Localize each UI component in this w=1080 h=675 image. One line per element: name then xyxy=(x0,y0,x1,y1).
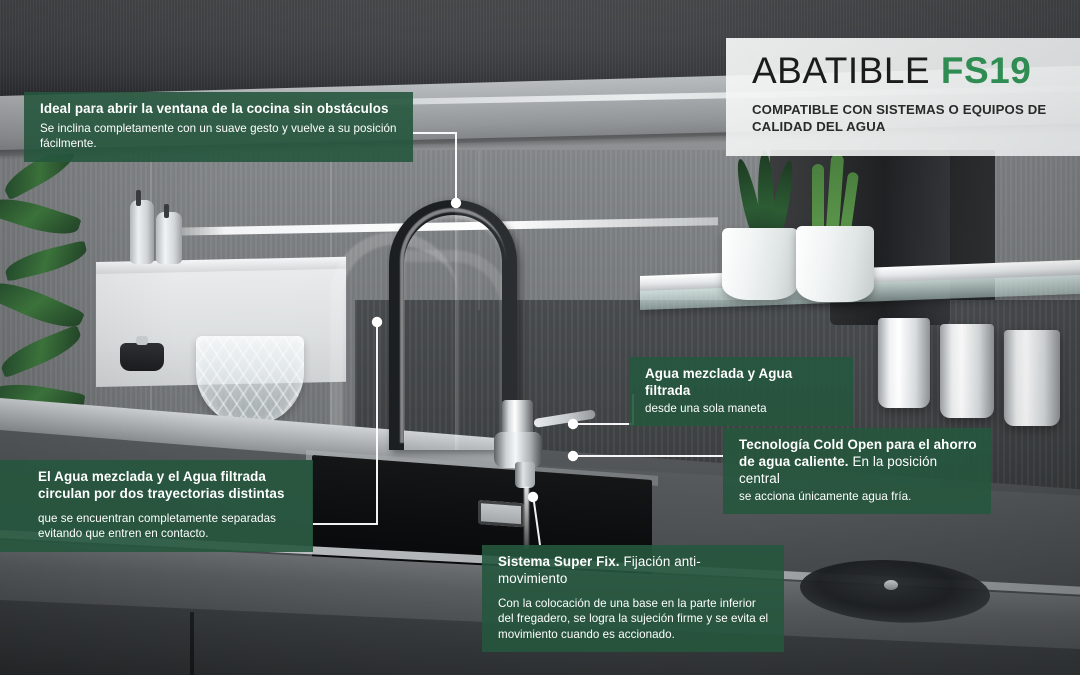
product-title: ABATIBLE FS19 xyxy=(752,52,1080,90)
callout-super-fix-body: Con la colocación de una base en la part… xyxy=(498,596,770,642)
callout-super-fix: Sistema Super Fix. Fijación anti-movimie… xyxy=(482,545,784,652)
callout-trayectorias-body: que se encuentran completamente separada… xyxy=(38,511,299,542)
callout-mezclada: Agua mezclada y Agua filtrada desde una … xyxy=(629,357,853,426)
callout-ventana-body: Se inclina completamente con un suave ge… xyxy=(40,121,399,152)
product-subtitle: COMPATIBLE CON SISTEMAS O EQUIPOS DE CAL… xyxy=(752,101,1080,136)
product-model: FS19 xyxy=(941,50,1031,91)
product-title-main: ABATIBLE xyxy=(752,50,930,91)
callout-ventana-heading: Ideal para abrir la ventana de la cocina… xyxy=(40,101,399,118)
callout-super-fix-heading: Sistema Super Fix. Fijación anti-movimie… xyxy=(498,554,770,588)
callout-mezclada-heading: Agua mezclada y Agua filtrada xyxy=(645,366,839,400)
callout-super-fix-heading-bold: Sistema Super Fix. xyxy=(498,554,620,569)
callout-mezclada-body: desde una sola maneta xyxy=(645,401,839,416)
callout-cold-open-heading: Tecnología Cold Open para el ahorro de a… xyxy=(739,437,977,488)
callout-cold-open: Tecnología Cold Open para el ahorro de a… xyxy=(723,428,991,514)
callout-trayectorias: El Agua mezclada y el Agua filtrada circ… xyxy=(0,460,313,552)
callout-ventana: Ideal para abrir la ventana de la cocina… xyxy=(24,92,413,162)
infographic-canvas: ABATIBLE FS19 COMPATIBLE CON SISTEMAS O … xyxy=(0,0,1080,675)
callout-cold-open-body: se acciona únicamente agua fría. xyxy=(739,489,977,504)
callout-trayectorias-heading: El Agua mezclada y el Agua filtrada circ… xyxy=(38,469,299,503)
product-title-panel: ABATIBLE FS19 COMPATIBLE CON SISTEMAS O … xyxy=(726,38,1080,156)
